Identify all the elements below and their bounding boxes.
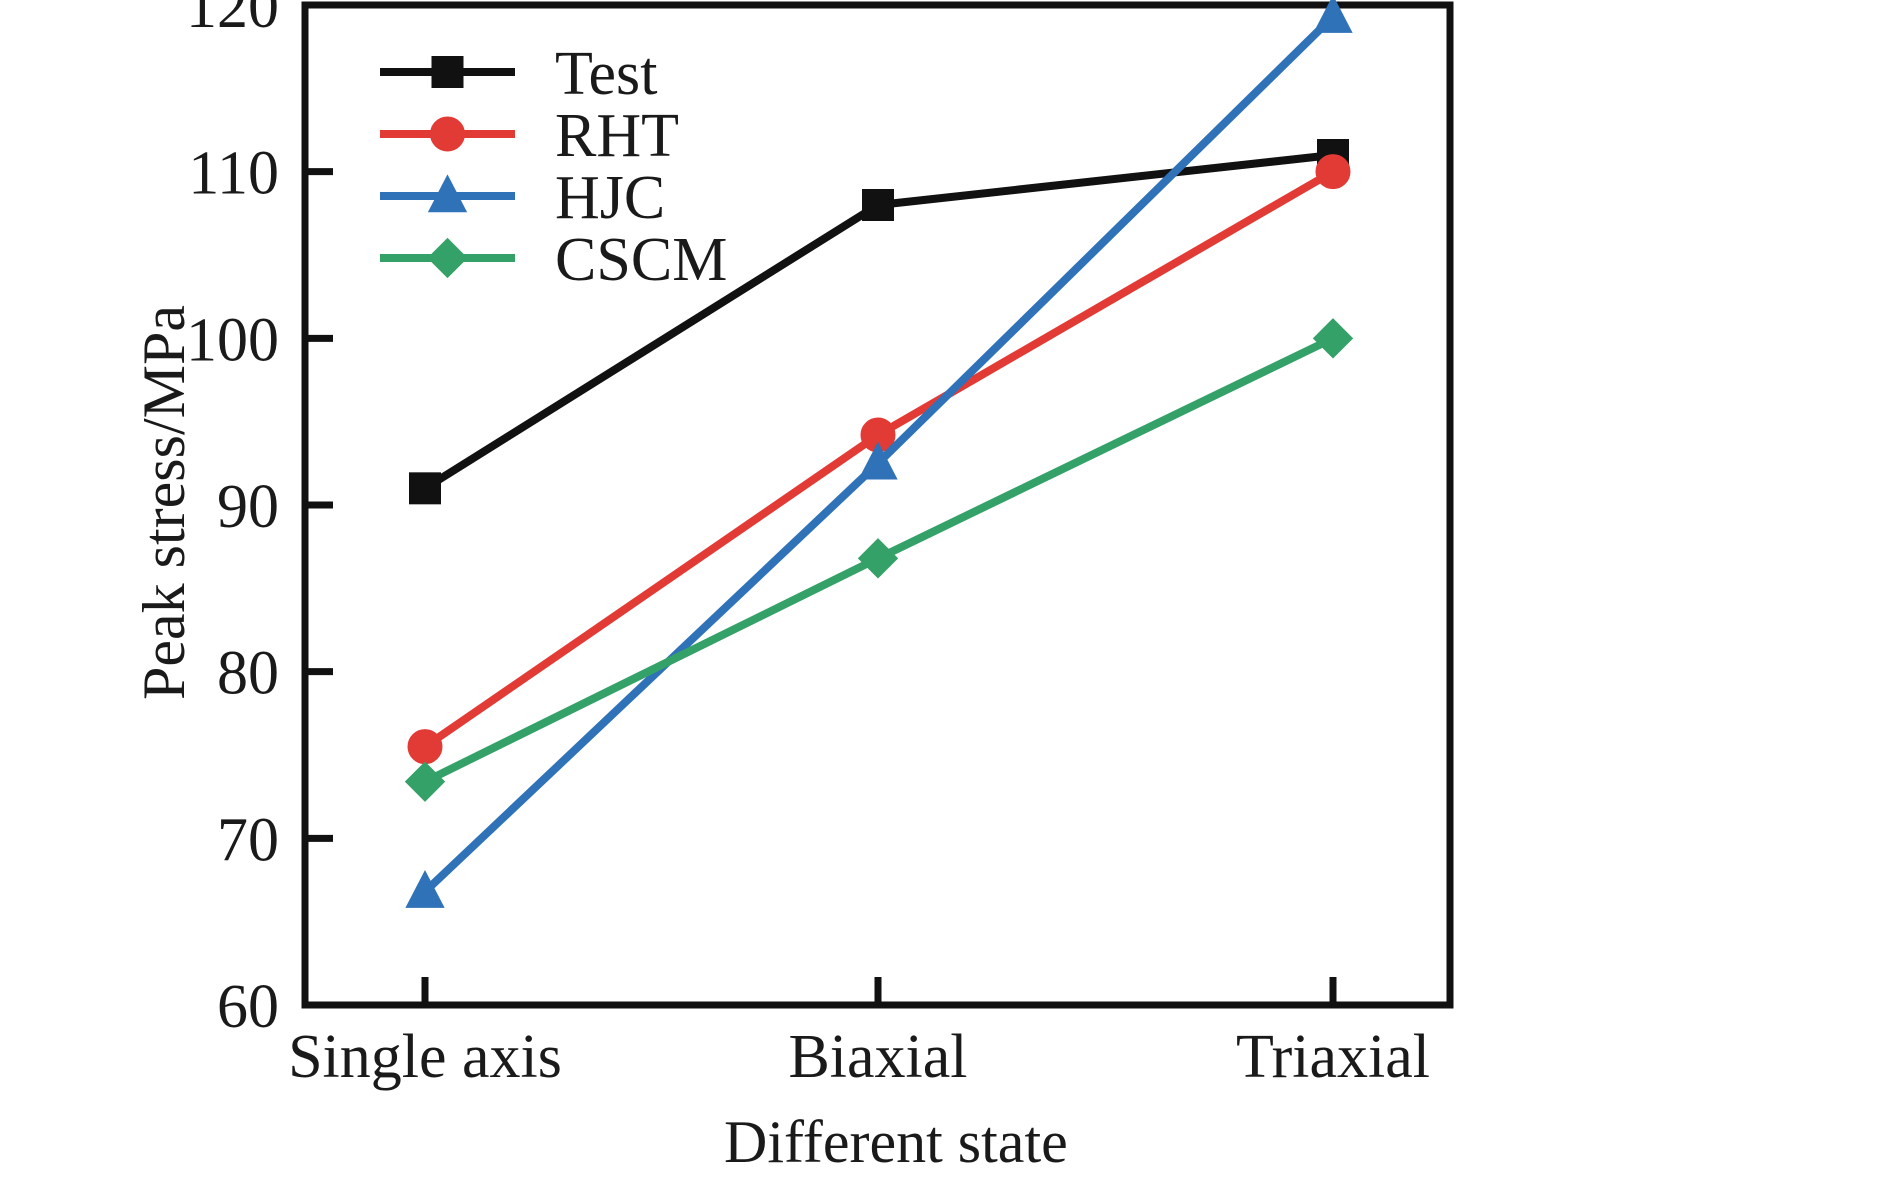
legend-marker-glyph [433,57,463,87]
y-tick-label: 120 [186,0,279,41]
x-tick-label: Triaxial [1236,1023,1430,1091]
legend-item-hjc[interactable]: HJC [380,164,665,232]
series-cscm [406,320,1352,801]
legend-marker-diamond [380,239,515,277]
legend-item-cscm[interactable]: CSCM [380,226,727,294]
legend-item-rht[interactable]: RHT [380,102,679,170]
y-axis-tick-labels: 120 110 100 90 80 70 60 [186,0,279,1041]
legend-label: HJC [555,164,665,232]
y-tick-label: 60 [217,973,279,1041]
y-tick-label: 100 [186,306,279,374]
legend-label: CSCM [555,226,727,294]
y-tick-label: 90 [217,473,279,541]
legend-marker-circle [380,118,515,151]
plot-frame [305,5,1450,1005]
legend-label: RHT [555,102,679,170]
y-axis-ticks [305,5,333,1005]
chart-canvas: 120 110 100 90 80 70 60 Single axis Biax… [0,0,1889,1196]
x-tick-label: Single axis [288,1023,562,1091]
x-tick-label: Biaxial [788,1023,967,1091]
x-axis-ticks [425,977,1333,1005]
data-point-diamond [406,763,444,801]
legend-marker-glyph [431,118,464,151]
data-point-square [410,473,440,503]
legend-marker-glyph [429,239,467,277]
data-point-diamond [859,540,897,578]
x-axis-category-labels: Single axis Biaxial Triaxial [288,1023,1430,1091]
legend-label: Test [555,40,657,108]
legend: Test RHT HJC CSCM [380,40,727,294]
data-point-diamond [1314,320,1352,358]
y-tick-label: 80 [217,640,279,708]
legend-marker-square [380,57,515,87]
series-hjc [407,0,1351,907]
data-point-circle [1317,155,1350,188]
data-point-circle [409,730,442,763]
y-axis-title: Peak stress/MPa [130,305,199,700]
legend-item-test[interactable]: Test [380,40,657,108]
data-point-square [863,190,893,220]
y-tick-label: 70 [217,806,279,874]
x-axis-title: Different state [724,1108,1068,1177]
chart-figure: 120 110 100 90 80 70 60 Single axis Biax… [0,0,1889,1196]
data-series-group [406,0,1352,907]
legend-marker-triangle [380,177,515,212]
y-tick-label: 110 [188,140,279,208]
